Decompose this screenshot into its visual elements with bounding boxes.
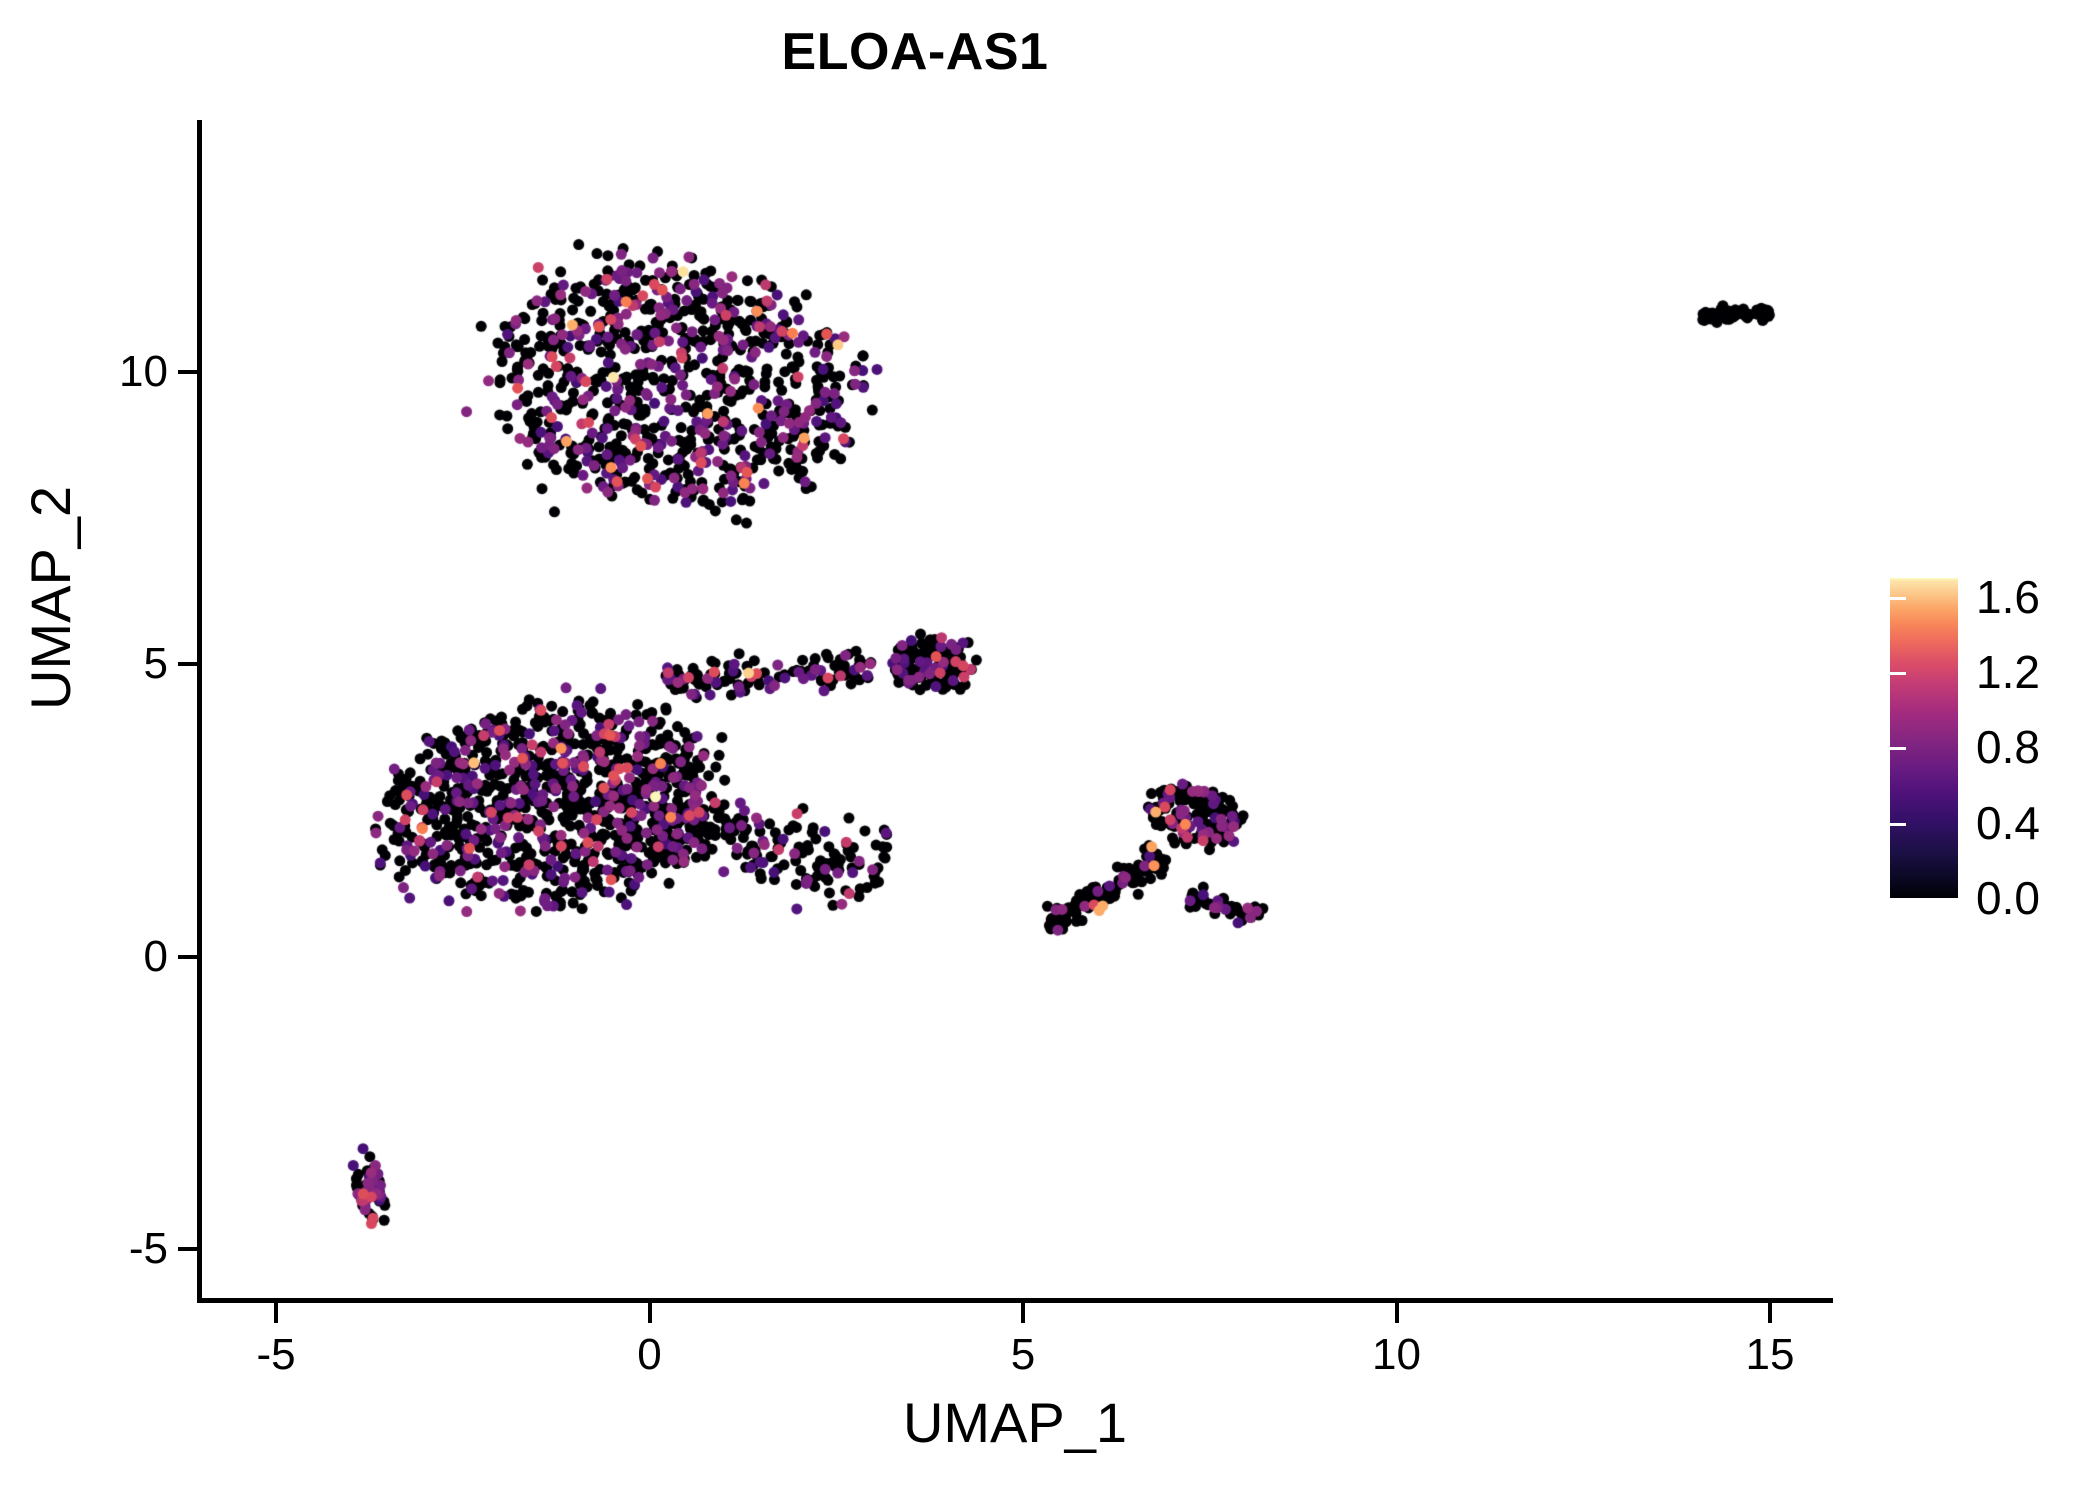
y-tick-label: 10 (119, 347, 168, 397)
x-tick-label: -5 (256, 1330, 295, 1380)
colorbar-tick-left (1890, 823, 1906, 826)
colorbar-gradient (1890, 578, 1958, 898)
x-tick-5 (1021, 1303, 1025, 1323)
colorbar-legend: 1.61.20.80.40.0 (1890, 570, 2080, 910)
y-axis-line (197, 120, 202, 1303)
x-tick-15 (1768, 1303, 1772, 1323)
y-tick-0 (178, 955, 198, 959)
colorbar-tick-left (1890, 898, 1906, 901)
y-tick-label: 0 (144, 932, 168, 982)
x-tick-0 (648, 1303, 652, 1323)
figure-root: ELOA-AS1 -50510 -5051015 UMAP_2 UMAP_1 1… (0, 0, 2100, 1500)
y-axis-title: UMAP_2 (18, 486, 83, 710)
colorbar-label: 0.4 (1976, 796, 2040, 850)
colorbar-label: 1.6 (1976, 570, 2040, 624)
y-tick-label: 5 (144, 639, 168, 689)
x-tick-label: 15 (1746, 1330, 1795, 1380)
x-tick-10 (1395, 1303, 1399, 1323)
x-axis-title: UMAP_1 (200, 1390, 1830, 1455)
colorbar-label: 0.8 (1976, 720, 2040, 774)
colorbar-tick-right (2064, 672, 2080, 675)
colorbar-tick-right (2064, 898, 2080, 901)
x-axis-line (197, 1298, 1833, 1303)
y-tick-label: -5 (129, 1224, 168, 1274)
colorbar-label: 1.2 (1976, 645, 2040, 699)
x-tick-label: 5 (1011, 1330, 1035, 1380)
colorbar-tick-left (1890, 672, 1906, 675)
colorbar-tick-right (2064, 597, 2080, 600)
page-title: ELOA-AS1 (0, 22, 1830, 82)
colorbar-tick-left (1890, 597, 1906, 600)
x-tick--5 (274, 1303, 278, 1323)
y-tick-10 (178, 370, 198, 374)
colorbar-tick-left (1890, 747, 1906, 750)
colorbar-label: 0.0 (1976, 871, 2040, 925)
scatter-plot-canvas (200, 122, 1830, 1300)
x-tick-label: 10 (1372, 1330, 1421, 1380)
y-tick--5 (178, 1247, 198, 1251)
plot-panel (200, 122, 1830, 1300)
y-tick-5 (178, 662, 198, 666)
x-tick-label: 0 (637, 1330, 661, 1380)
colorbar-tick-right (2064, 823, 2080, 826)
colorbar-tick-right (2064, 747, 2080, 750)
